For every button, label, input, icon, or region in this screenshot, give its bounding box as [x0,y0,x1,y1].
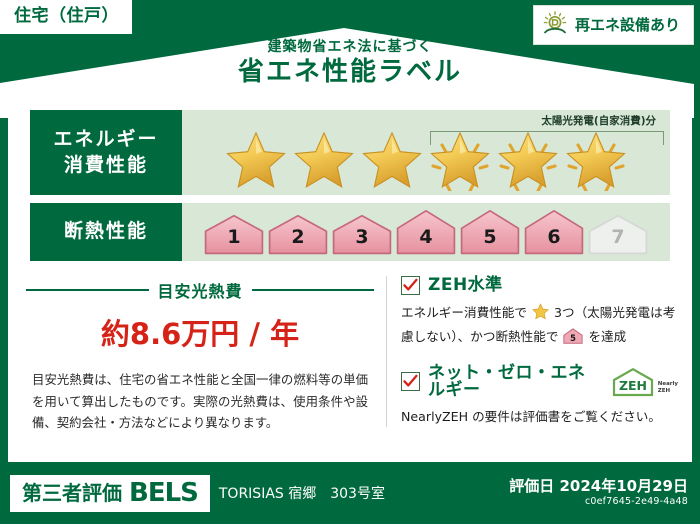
heading-rule-right [252,289,375,291]
energy-label-line2: 消費性能 [64,153,148,179]
zeh-standard-head: ZEH水準 [401,276,678,295]
zeh-standard-title: ZEH水準 [428,277,503,294]
zeh-logo-sub-line1: Nearly [658,381,678,387]
checkbox-zeh-standard[interactable] [401,276,420,295]
house-level-7: 7 [587,214,649,255]
utility-cost-block: 目安光熱費 約8.6万円 / 年 目安光熱費は、住宅の省エネ性能と全国一律の燃料… [26,278,374,434]
building-name: TORISIAS 宿郷 303号室 [219,483,385,503]
utility-cost-title: 目安光熱費 [158,278,243,302]
footer-bar: 第三者評価 BELS TORISIAS 宿郷 303号室 評価日 2024年10… [0,462,700,524]
house-level-5: 5 [459,209,521,255]
bels-third-party-badge: 第三者評価 BELS [10,475,210,512]
title-main: 省エネ性能ラベル [0,58,700,87]
evaluation-meta: 評価日 2024年10月29日 c0ef7645-2e49-4a48 [509,478,688,509]
zeh-house-logo: ZEH Nearly ZEH [610,367,678,397]
star-icon [528,308,553,323]
house-level-1: 1 [203,214,265,255]
insulation-performance-label: 断熱性能 [30,203,182,261]
insulation-performance-row: 断熱性能 1234567 [30,203,670,261]
house-level-number: 7 [587,226,649,248]
bels-badge-en-label: BELS [129,480,198,506]
zeh-item-standard: ZEH水準 エネルギー消費性能で 3つ（太陽光発電は考慮しない）、かつ断熱性能で… [401,276,678,351]
house-level-number: 1 [203,226,265,248]
house-level-number: 2 [267,226,329,248]
energy-performance-row: エネルギー 消費性能 太陽光発電(自家消費)分 [30,110,670,195]
star-icon-solar [565,129,627,191]
house-level-number: 5 [459,226,521,248]
star-icon-solar [497,129,559,191]
zeh-logo-sub: Nearly ZEH [658,381,678,397]
house-level-2: 2 [267,214,329,255]
zeh-panel: ZEH水準 エネルギー消費性能で 3つ（太陽光発電は考慮しない）、かつ断熱性能で… [386,276,678,427]
star-icon [225,129,287,191]
star-icon [361,129,423,191]
svg-text:5: 5 [571,333,577,343]
house-level-number: 6 [523,226,585,248]
house-level-number: 4 [395,226,457,248]
star-icon-solar [429,129,491,191]
bels-badge-jp-label: 第三者評価 [22,483,122,503]
energy-performance-label: エネルギー 消費性能 [30,110,182,195]
sun-solar-icon [542,11,568,39]
insulation-rating-panel: 1234567 [182,203,670,261]
star-icon [293,129,355,191]
utility-cost-value: 約8.6万円 / 年 [26,311,374,353]
zeh-item-net-zero: ネット・ゼロ・エネルギー ZEH Nearly ZEH NearlyZEH [401,365,678,427]
house-level-number: 3 [331,226,393,248]
zeh-net-zero-desc: NearlyZEH の要件は評価書をご覧ください。 [401,406,678,427]
energy-rating-panel: 太陽光発電(自家消費)分 [182,110,670,195]
checkbox-zeh-net-zero[interactable] [401,372,420,391]
evaluation-date: 評価日 2024年10月29日 [509,478,688,495]
insulation-label-text: 断熱性能 [64,219,148,245]
utility-cost-heading: 目安光熱費 [26,278,374,302]
zeh-logo-sub-line2: ZEH [658,388,670,394]
zeh-desc-text-1: エネルギー消費性能で [401,305,527,320]
utility-cost-note: 目安光熱費は、住宅の省エネ性能と全国一律の燃料等の単価を用いて算出したものです。… [26,369,374,434]
house-5-icon: 5 [559,332,587,347]
content-card: エネルギー 消費性能 太陽光発電(自家消費)分 断熱性能 1234567 目安光… [8,100,692,462]
star-rating-group [182,110,670,195]
house-level-4: 4 [395,209,457,255]
label-title-block: 建築物省エネ法に基づく 省エネ性能ラベル [0,40,700,87]
house-level-group: 1234567 [182,203,670,261]
renewable-badge-label: 再エネ設備あり [575,18,680,33]
energy-label-root: 住宅（住戸） 再エネ設備あり 建築物省エネ法に基づく [0,0,700,524]
zeh-net-zero-title: ネット・ゼロ・エネルギー [428,365,598,399]
zeh-desc-text-3: を達成 [588,329,626,344]
house-level-3: 3 [331,214,393,255]
heading-rule-left [26,289,149,291]
housing-type-chip: 住宅（住戸） [0,0,132,34]
renewable-equipment-badge: 再エネ設備あり [533,5,694,45]
evaluation-uid: c0ef7645-2e49-4a48 [509,495,688,508]
svg-text:ZEH: ZEH [619,378,647,393]
zeh-standard-desc: エネルギー消費性能で 3つ（太陽光発電は考慮しない）、かつ断熱性能で 5 を達成 [401,302,678,351]
zeh-net-zero-head: ネット・ゼロ・エネルギー ZEH Nearly ZEH [401,365,678,399]
energy-label-line1: エネルギー [53,127,158,153]
house-level-6: 6 [523,209,585,255]
